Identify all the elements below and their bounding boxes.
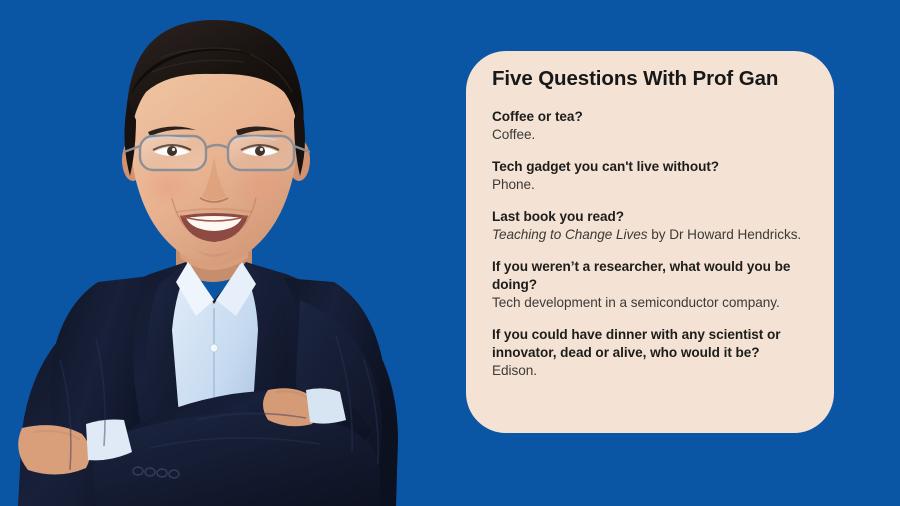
qa-list: Coffee or tea? Coffee. Tech gadget you c… <box>492 108 808 381</box>
answer-text: Phone. <box>492 176 808 194</box>
question-text: If you could have dinner with any scient… <box>492 326 808 362</box>
question-text: If you weren’t a researcher, what would … <box>492 258 808 294</box>
qa-item: If you could have dinner with any scient… <box>492 326 808 380</box>
answer-plain: Tech development in a semiconductor comp… <box>492 295 780 310</box>
answer-tail: by Dr Howard Hendricks. <box>648 227 802 242</box>
answer-text: Edison. <box>492 362 808 380</box>
portrait-photo <box>0 0 450 506</box>
qa-item: If you weren’t a researcher, what would … <box>492 258 808 312</box>
five-questions-card: Five Questions With Prof Gan Coffee or t… <box>466 51 834 433</box>
question-text: Last book you read? <box>492 208 808 226</box>
answer-text: Teaching to Change Lives by Dr Howard He… <box>492 226 808 244</box>
book-title-italic: Teaching to Change Lives <box>492 227 648 242</box>
answer-plain: Phone. <box>492 177 535 192</box>
slide-canvas: Five Questions With Prof Gan Coffee or t… <box>0 0 900 506</box>
qa-item: Tech gadget you can't live without? Phon… <box>492 158 808 194</box>
answer-plain: Edison. <box>492 363 537 378</box>
answer-text: Coffee. <box>492 126 808 144</box>
question-text: Tech gadget you can't live without? <box>492 158 808 176</box>
qa-item: Coffee or tea? Coffee. <box>492 108 808 144</box>
answer-text: Tech development in a semiconductor comp… <box>492 294 808 312</box>
question-text: Coffee or tea? <box>492 108 808 126</box>
qa-item: Last book you read? Teaching to Change L… <box>492 208 808 244</box>
answer-plain: Coffee. <box>492 127 535 142</box>
card-title: Five Questions With Prof Gan <box>492 67 808 92</box>
